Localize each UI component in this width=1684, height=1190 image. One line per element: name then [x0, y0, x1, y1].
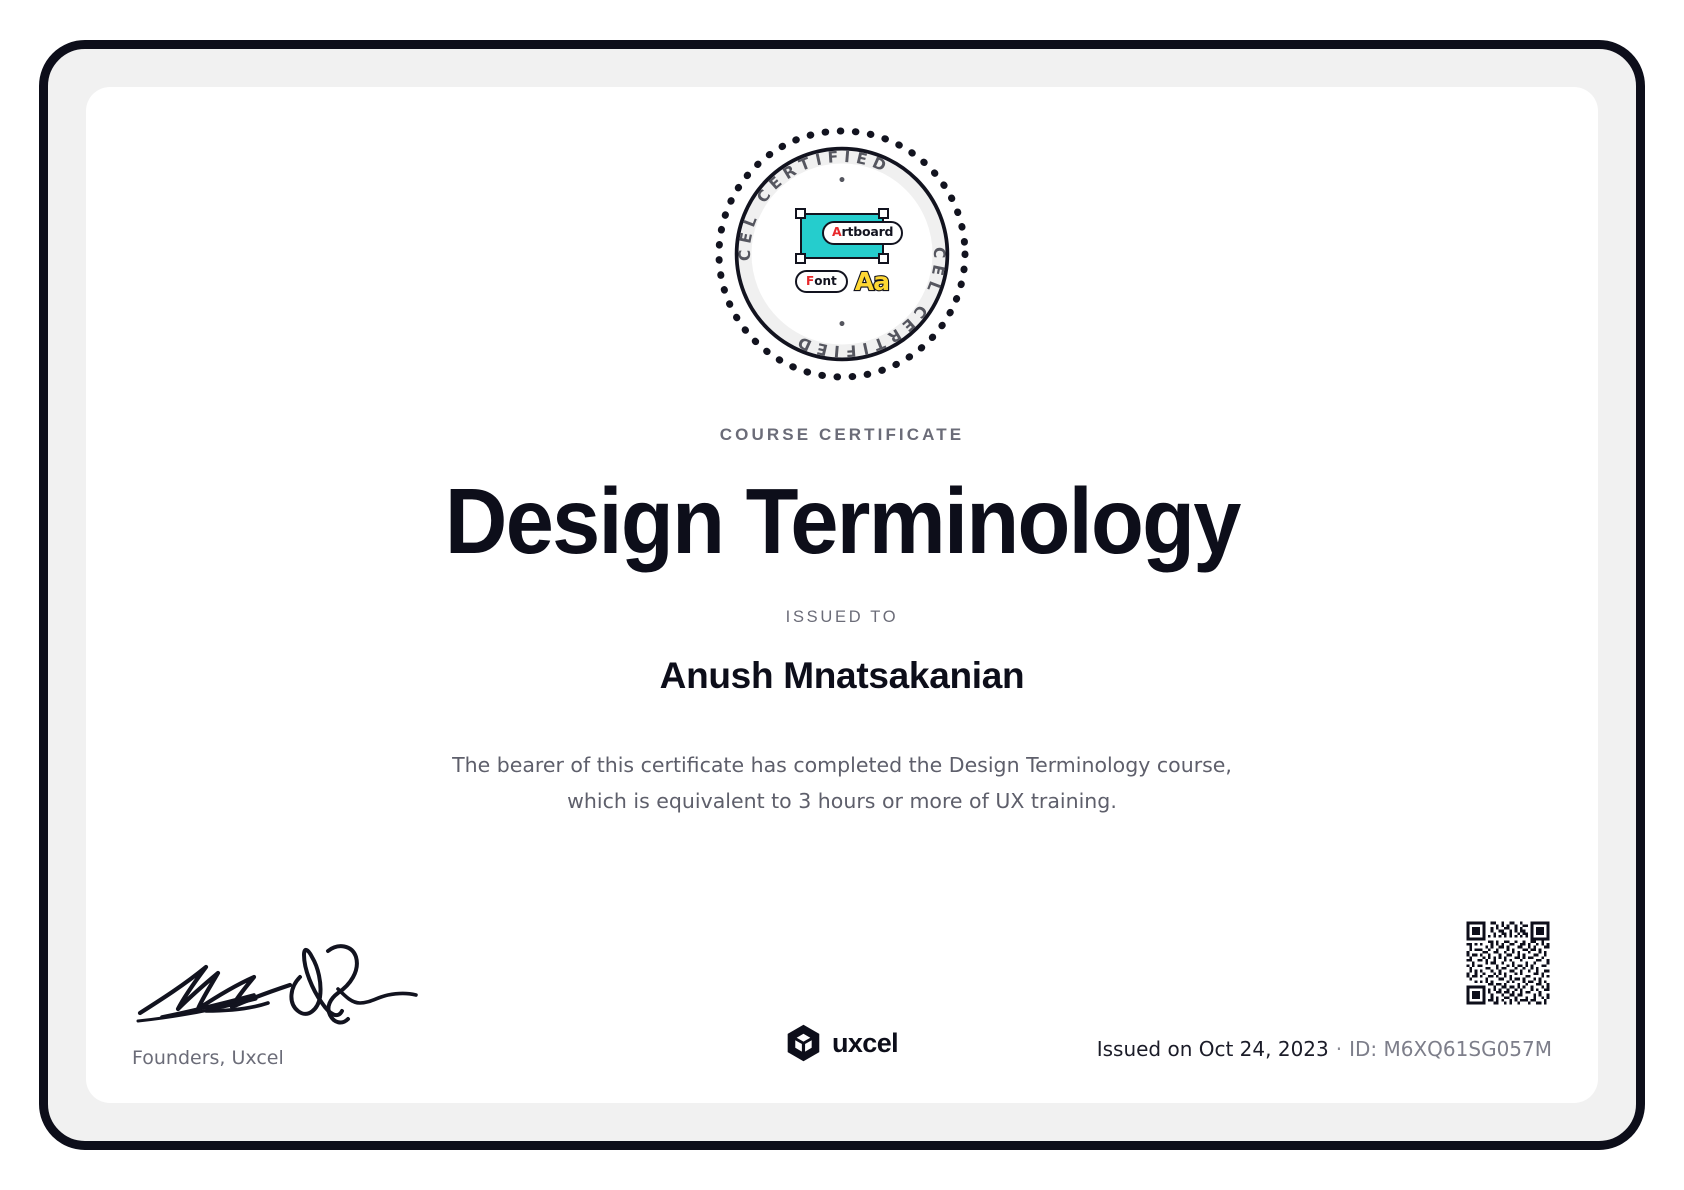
- type-sample-glyphs: Aa: [855, 269, 889, 294]
- description-line-2: which is equivalent to 3 hours or more o…: [452, 783, 1232, 819]
- artboard-label-rest: rtboard: [841, 226, 893, 239]
- font-icon-row: Font Aa: [788, 269, 896, 294]
- founder-signatures-image: [132, 941, 422, 1033]
- seal-ring-separator-top: •: [838, 173, 847, 189]
- artboard-label-initial: A: [832, 226, 841, 239]
- uxcel-hexagon-cube-icon: [786, 1024, 821, 1063]
- certificate-footer: Founders, Uxcel uxcel: [86, 899, 1598, 1069]
- uxcel-certified-seal: UXCEL CERTIFIED UXCEL CERTIFIED • • Artb…: [711, 123, 973, 385]
- resize-handle-bottom-right: [878, 253, 889, 264]
- signature-block: Founders, Uxcel: [132, 941, 462, 1069]
- issue-details-separator: ·: [1329, 1037, 1349, 1061]
- certificate-frame: UXCEL CERTIFIED UXCEL CERTIFIED • • Artb…: [39, 40, 1645, 1150]
- font-label-initial: F: [806, 275, 814, 287]
- certificate-eyebrow: COURSE CERTIFICATE: [720, 425, 964, 445]
- resize-handle-top-left: [795, 208, 806, 219]
- uxcel-brand-logo: uxcel: [786, 1024, 898, 1063]
- certificate-qr-code[interactable]: [1464, 919, 1552, 1007]
- issued-to-label: ISSUED TO: [786, 608, 899, 627]
- certificate-description: The bearer of this certificate has compl…: [452, 747, 1232, 820]
- artboard-icon: Artboard: [794, 208, 890, 264]
- course-title: Design Terminology: [445, 473, 1240, 570]
- seal-center-icon: Artboard Font Aa: [788, 208, 896, 300]
- certificate-card: UXCEL CERTIFIED UXCEL CERTIFIED • • Artb…: [86, 87, 1598, 1103]
- seal-ring-separator-bottom: •: [838, 317, 847, 333]
- resize-handle-top-right: [878, 208, 889, 219]
- signature-label: Founders, Uxcel: [132, 1047, 462, 1069]
- issued-on-date: Issued on Oct 24, 2023: [1097, 1037, 1329, 1061]
- font-label-pill: Font: [795, 270, 848, 293]
- uxcel-wordmark: uxcel: [832, 1028, 898, 1059]
- certificate-id: ID: M6XQ61SG057M: [1349, 1037, 1552, 1061]
- issue-details: Issued on Oct 24, 2023·ID: M6XQ61SG057M: [1097, 1037, 1552, 1061]
- resize-handle-bottom-left: [795, 253, 806, 264]
- recipient-name: Anush Mnatsakanian: [660, 655, 1025, 697]
- font-label-rest: ont: [814, 275, 837, 287]
- artboard-label-pill: Artboard: [822, 221, 903, 245]
- description-line-1: The bearer of this certificate has compl…: [452, 747, 1232, 783]
